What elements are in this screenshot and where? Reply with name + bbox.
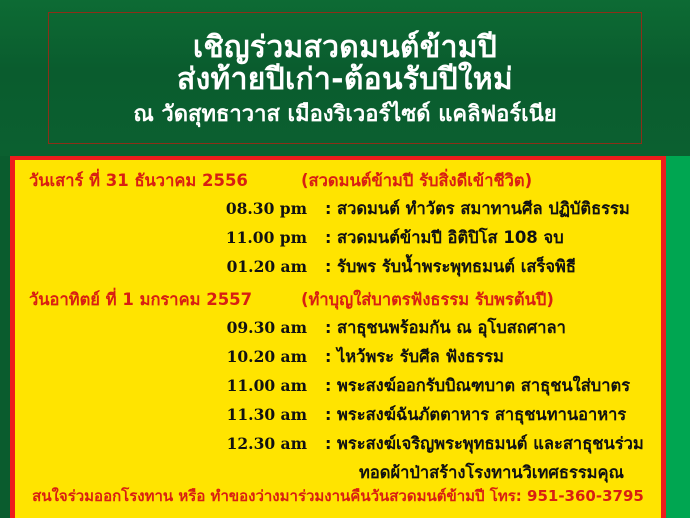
- day-label-saturday: วันเสาร์ ที่ 31 ธันวาคม 2556: [29, 168, 301, 194]
- event-separator: :: [325, 405, 337, 424]
- header-title-line2: ส่งท้ายปีเก่า-ต้อนรับปีใหม่: [177, 64, 513, 96]
- event-time: 01.20 am: [29, 257, 325, 276]
- header-frame: เชิญร่วมสวดมนต์ข้ามปี ส่งท้ายปีเก่า-ต้อน…: [48, 12, 642, 144]
- day-header-saturday: วันเสาร์ ที่ 31 ธันวาคม 2556 (สวดมนต์ข้า…: [29, 168, 647, 194]
- schedule-panel: วันเสาร์ ที่ 31 ธันวาคม 2556 (สวดมนต์ข้า…: [15, 160, 661, 518]
- event-separator: :: [325, 199, 337, 218]
- event-time: 11.00 am: [29, 376, 325, 395]
- day-note-sunday: (ทำบุญใส่บาตรฟังธรรม รับพรต้นปี): [301, 287, 554, 313]
- day-label-sunday: วันอาทิตย์ ที่ 1 มกราคม 2557: [29, 287, 301, 313]
- event-description: สวดมนต์ข้ามปี อิติปิโส 108 จบ: [337, 225, 564, 251]
- header-title-line1: เชิญร่วมสวดมนต์ข้ามปี: [193, 32, 497, 64]
- event-separator: :: [325, 318, 337, 337]
- event-description: พระสงฆ์เจริญพระพุทธมนต์ และสาธุชนร่วม: [337, 431, 644, 457]
- event-time: 08.30 pm: [29, 199, 325, 218]
- schedule-row: 01.20 am : รับพร รับน้ำพระพุทธมนต์ เสร็จ…: [29, 254, 647, 280]
- footer-contact-line: สนใจร่วมออกโรงทาน หรือ ทำของว่างมาร่วมงา…: [15, 484, 661, 508]
- event-time: 11.30 am: [29, 405, 325, 424]
- event-separator: :: [325, 434, 337, 453]
- schedule-row: 11.00 pm : สวดมนต์ข้ามปี อิติปิโส 108 จบ: [29, 225, 647, 251]
- event-time: 09.30 am: [29, 318, 325, 337]
- event-description-continuation: ทอดผ้าป่าสร้างโรงทานวิเทศธรรมคุณ: [29, 460, 647, 486]
- schedule-panel-border: วันเสาร์ ที่ 31 ธันวาคม 2556 (สวดมนต์ข้า…: [10, 156, 666, 518]
- event-separator: :: [325, 257, 337, 276]
- poster-root: เชิญร่วมสวดมนต์ข้ามปี ส่งท้ายปีเก่า-ต้อน…: [0, 0, 690, 518]
- schedule-row: 12.30 am : พระสงฆ์เจริญพระพุทธมนต์ และสา…: [29, 431, 647, 457]
- event-separator: :: [325, 376, 337, 395]
- event-description: รับพร รับน้ำพระพุทธมนต์ เสร็จพิธี: [337, 254, 576, 280]
- event-description: พระสงฆ์ออกรับบิณฑบาต สาธุชนใส่บาตร: [337, 373, 630, 399]
- header-venue-line: ณ วัดสุทธาวาส เมืองริเวอร์ไซด์ แคลิฟอร์เ…: [133, 101, 556, 129]
- event-time: 10.20 am: [29, 347, 325, 366]
- schedule-row: 10.20 am : ไหว้พระ รับศีล ฟังธรรม: [29, 344, 647, 370]
- right-green-strip: [666, 156, 690, 518]
- schedule-row: 11.30 am : พระสงฆ์ฉันภัตตาหาร สาธุชนทานอ…: [29, 402, 647, 428]
- event-description: ไหว้พระ รับศีล ฟังธรรม: [337, 344, 504, 370]
- event-time: 11.00 pm: [29, 228, 325, 247]
- event-description: สาธุชนพร้อมกัน ณ อุโบสถศาลา: [337, 315, 566, 341]
- left-green-strip: [0, 156, 10, 518]
- event-separator: :: [325, 347, 337, 366]
- event-description: สวดมนต์ ทำวัตร สมาทานศีล ปฏิบัติธรรม: [337, 196, 630, 222]
- poster-header: เชิญร่วมสวดมนต์ข้ามปี ส่งท้ายปีเก่า-ต้อน…: [0, 0, 690, 156]
- day-note-saturday: (สวดมนต์ข้ามปี รับสิ่งดีเข้าชีวิต): [301, 168, 532, 194]
- event-description: พระสงฆ์ฉันภัตตาหาร สาธุชนทานอาหาร: [337, 402, 626, 428]
- event-time: 12.30 am: [29, 434, 325, 453]
- schedule-row: 11.00 am : พระสงฆ์ออกรับบิณฑบาต สาธุชนใส…: [29, 373, 647, 399]
- day-header-sunday: วันอาทิตย์ ที่ 1 มกราคม 2557 (ทำบุญใส่บา…: [29, 287, 647, 313]
- schedule-row: 08.30 pm : สวดมนต์ ทำวัตร สมาทานศีล ปฏิบ…: [29, 196, 647, 222]
- event-separator: :: [325, 228, 337, 247]
- schedule-row: 09.30 am : สาธุชนพร้อมกัน ณ อุโบสถศาลา: [29, 315, 647, 341]
